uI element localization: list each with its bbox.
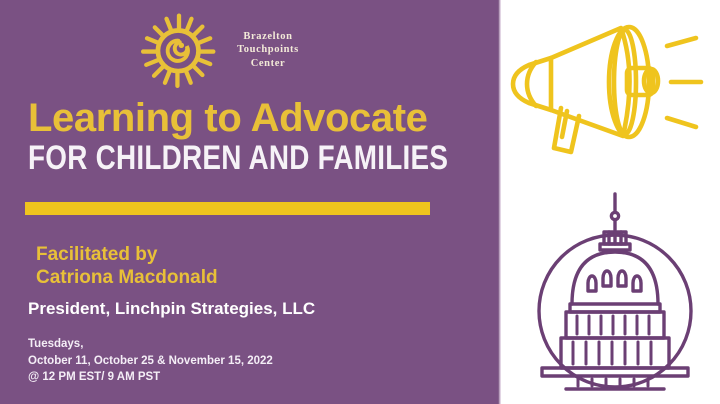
facilitator-role: President, Linchpin Strategies, LLC xyxy=(28,298,315,319)
schedule-line-1: Tuesdays, xyxy=(28,336,273,353)
logo-line-3: Center xyxy=(220,57,316,71)
sun-icon xyxy=(140,11,218,89)
megaphone-icon xyxy=(505,12,705,157)
brazelton-logo: Brazelton Touchpoints Center xyxy=(140,10,325,90)
webinar-promo-slide: Brazelton Touchpoints Center Learning to… xyxy=(0,0,720,404)
schedule-line-2: October 11, October 25 & November 15, 20… xyxy=(28,353,273,370)
schedule-line-3: @ 12 PM EST/ 9 AM PST xyxy=(28,369,273,386)
panel-divider xyxy=(498,0,501,404)
facilitator-name: Catriona Macdonald xyxy=(36,266,218,289)
schedule-block: Tuesdays, October 11, October 25 & Novem… xyxy=(28,336,273,386)
page-title-primary: Learning to Advocate xyxy=(28,96,427,140)
capitol-dome-icon xyxy=(530,186,700,398)
page-title-secondary: FOR CHILDREN AND FAMILIES xyxy=(28,139,448,177)
logo-wordmark: Brazelton Touchpoints Center xyxy=(220,30,316,71)
facilitator-label: Facilitated by xyxy=(36,243,218,266)
logo-line-1: Brazelton xyxy=(220,30,316,44)
logo-line-2: Touchpoints xyxy=(220,43,316,57)
gold-divider-bar xyxy=(25,202,430,215)
facilitator-block: Facilitated by Catriona Macdonald xyxy=(36,243,218,289)
